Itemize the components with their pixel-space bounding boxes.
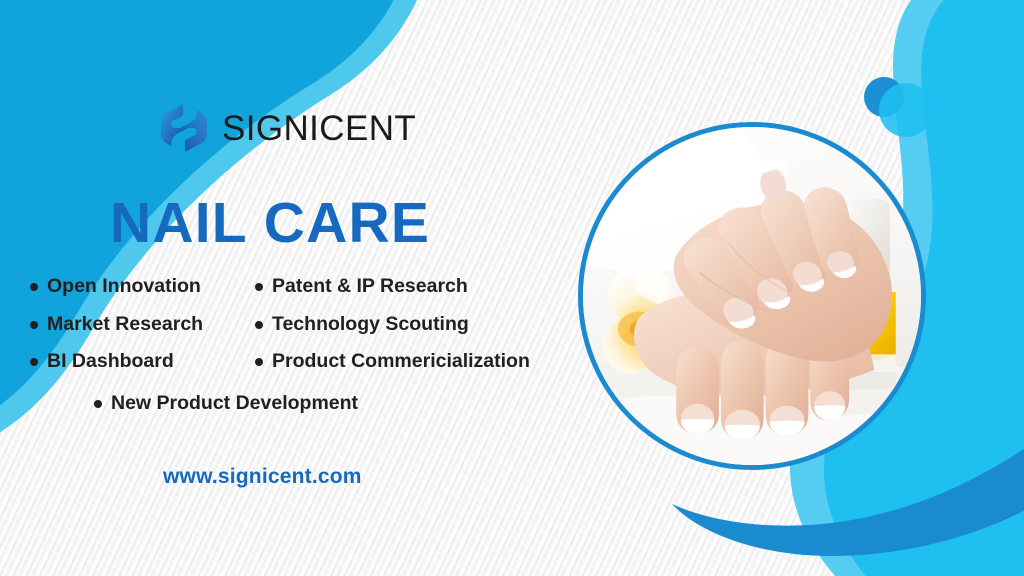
services-row: Open Innovation Patent & IP Research (30, 277, 590, 315)
bullet-dot-icon (30, 358, 38, 366)
list-item: Patent & IP Research (255, 277, 590, 297)
bullet-dot-icon (30, 283, 38, 291)
list-item: BI Dashboard (30, 352, 255, 372)
list-item-label: Market Research (47, 315, 203, 335)
small-circle-dark (864, 77, 904, 117)
bullet-dot-icon (255, 321, 263, 329)
list-item-label: BI Dashboard (47, 352, 174, 372)
list-item-label: Patent & IP Research (272, 277, 468, 297)
bullet-dot-icon (255, 283, 263, 291)
bullet-dot-icon (255, 358, 263, 366)
small-circle-cyan (879, 83, 933, 137)
services-list-last-row: New Product Development (94, 394, 358, 414)
list-item-label: Open Innovation (47, 277, 201, 297)
signicent-s-logo-icon (160, 103, 208, 153)
nail-care-photo (578, 122, 926, 470)
list-item: Technology Scouting (255, 315, 590, 335)
bullet-dot-icon (30, 321, 38, 329)
services-row: Market Research Technology Scouting (30, 315, 590, 353)
brand-logo: SIGNICENT (160, 103, 416, 153)
list-item: Open Innovation (30, 277, 255, 297)
list-item: New Product Development (94, 394, 358, 414)
brand-name: SIGNICENT (222, 111, 416, 146)
services-list: Open Innovation Patent & IP Research Mar… (30, 277, 590, 390)
bullet-dot-icon (94, 400, 102, 408)
website-url[interactable]: www.signicent.com (163, 466, 362, 487)
list-item: Market Research (30, 315, 255, 335)
list-item: Product Commericialization (255, 352, 590, 372)
list-item-label: Technology Scouting (272, 315, 469, 335)
services-row: BI Dashboard Product Commericialization (30, 352, 590, 390)
page-title: NAIL CARE (110, 195, 430, 252)
poster-canvas: SIGNICENT NAIL CARE Open Innovation Pate… (0, 0, 1024, 576)
list-item-label: Product Commericialization (272, 352, 530, 372)
list-item-label: New Product Development (111, 394, 358, 414)
